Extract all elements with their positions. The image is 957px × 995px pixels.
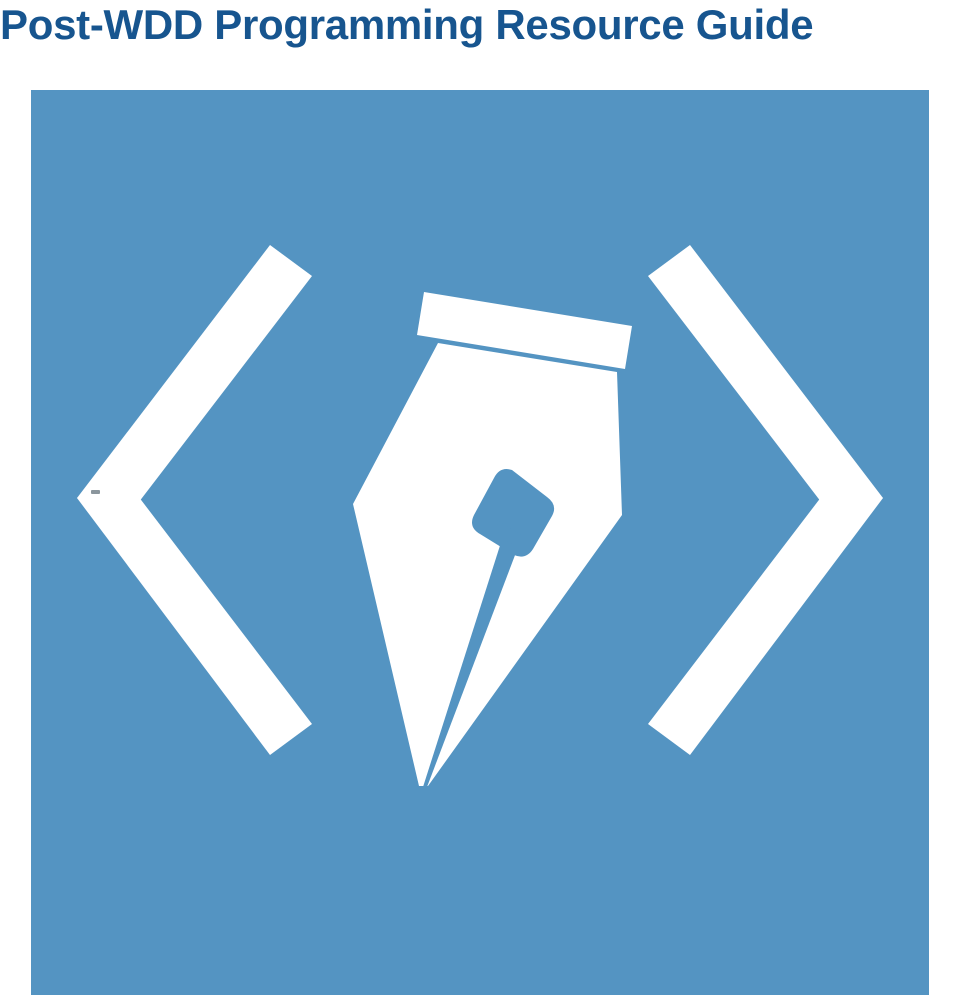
logo-panel	[31, 90, 929, 995]
page-title: Post-WDD Programming Resource Guide	[0, 0, 957, 54]
pen-nib-icon	[353, 343, 622, 787]
document-page: Post-WDD Programming Resource Guide	[0, 0, 957, 995]
right-angle-bracket-icon	[648, 245, 883, 755]
stray-speck	[91, 490, 100, 494]
left-angle-bracket-icon	[77, 245, 313, 755]
programming-resource-logo	[31, 90, 929, 995]
